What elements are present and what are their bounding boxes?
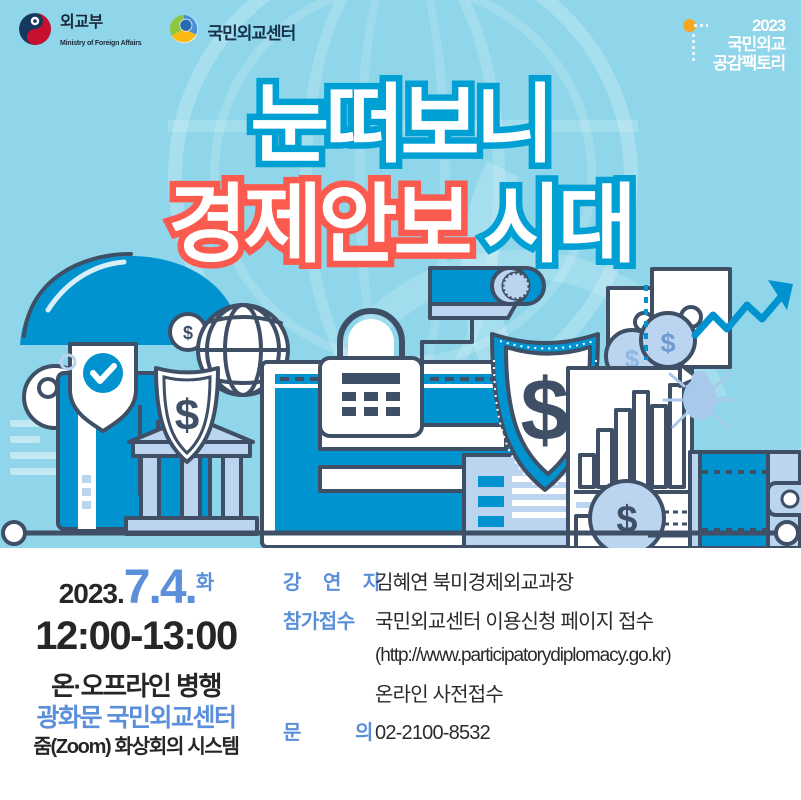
- info-label-registration: 참가접수: [283, 605, 375, 634]
- title-line-1: 눈떠보니: [0, 82, 801, 168]
- ncd-globe-icon: [169, 14, 199, 49]
- poster-root: 외교부 Ministry of Foreign Affairs 국민외교센터: [0, 0, 801, 800]
- info-label-speaker: 강 연 자: [283, 566, 375, 595]
- banknote-icon: $ $: [606, 269, 730, 382]
- svg-text:$: $: [521, 360, 570, 459]
- info-row-registration: 참가접수 국민외교센터 이용신청 페이지 접수: [283, 605, 793, 635]
- logo-bar: 외교부 Ministry of Foreign Affairs 국민외교센터: [18, 12, 295, 51]
- info-value-registration: 국민외교센터 이용신청 페이지 접수: [375, 609, 653, 635]
- registration-url-text: (http://www.participatorydiplomacy.go.kr…: [375, 645, 671, 666]
- info-label-contact: 문 의: [283, 716, 375, 745]
- security-economy-illustration: .ol { stroke:#3E4F66; stroke-width:4; fi…: [0, 240, 801, 548]
- title-word-nundeoboni: 눈떠보니: [250, 82, 550, 168]
- mofa-taegeuk-icon: [18, 12, 52, 51]
- footer-section: 2023.7.4.화 12:00-13:00 온·오프라인 병행 광화문 국민외…: [0, 548, 801, 800]
- event-platform: 줌(Zoom) 화상회의 시스템: [0, 735, 272, 760]
- mofa-logo-text: 외교부 Ministry of Foreign Affairs: [60, 14, 141, 50]
- chart-document: $: [568, 364, 698, 548]
- title-line-2: 경제안보시대: [0, 182, 801, 268]
- event-datetime-block: 2023.7.4.화 12:00-13:00 온·오프라인 병행 광화문 국민외…: [0, 564, 272, 760]
- poster-title: 눈떠보니 경제안보시대: [0, 82, 801, 268]
- lock-icon: [320, 311, 422, 436]
- ncd-logo: 국민외교센터: [169, 14, 295, 49]
- badge-dotted-line-vertical: [692, 34, 695, 64]
- event-time: 12:00-13:00: [0, 614, 272, 659]
- event-day-of-week: 화: [196, 572, 213, 594]
- info-registration-url[interactable]: (http://www.participatorydiplomacy.go.kr…: [375, 644, 793, 669]
- mofa-logo: 외교부 Ministry of Foreign Affairs: [18, 12, 141, 51]
- info-value-contact: 02-2100-8532: [375, 720, 490, 746]
- badge-dotted-line-horizontal: [694, 24, 708, 27]
- badge-year: 2023: [713, 16, 785, 35]
- event-info-block: 강 연 자 김혜연 북미경제외교과장 참가접수 국민외교센터 이용신청 페이지 …: [283, 566, 793, 755]
- title-word-sidae: 시대: [483, 182, 633, 268]
- mofa-name-ko: 외교부: [60, 14, 103, 31]
- badge-line-3: 공감팩토리: [713, 54, 785, 73]
- event-date-row: 2023.7.4.화: [0, 564, 272, 612]
- svg-text:$: $: [175, 391, 199, 440]
- event-mode: 온·오프라인 병행: [0, 671, 272, 703]
- info-value-speaker: 김혜연 북미경제외교과장: [375, 570, 573, 596]
- badge-line-2: 국민외교: [713, 35, 785, 54]
- svg-text:$: $: [660, 328, 675, 358]
- title-word-gyeongjeanbo: 경제안보: [168, 182, 468, 268]
- mofa-name-en: Ministry of Foreign Affairs: [60, 40, 141, 47]
- svg-text:$: $: [183, 323, 193, 343]
- event-venue: 광화문 국민외교센터: [0, 703, 272, 734]
- program-badge: 2023 국민외교 공감팩토리: [713, 16, 785, 73]
- info-registration-note: 온라인 사전접수: [375, 678, 793, 707]
- info-row-contact: 문 의 02-2100-8532: [283, 716, 793, 746]
- event-month-day: 7.4.: [124, 561, 196, 614]
- hero-section: 외교부 Ministry of Foreign Affairs 국민외교센터: [0, 0, 801, 548]
- event-year: 2023.: [59, 578, 124, 609]
- ncd-name-ko: 국민외교센터: [207, 19, 295, 44]
- info-row-speaker: 강 연 자 김혜연 북미경제외교과장: [283, 566, 793, 596]
